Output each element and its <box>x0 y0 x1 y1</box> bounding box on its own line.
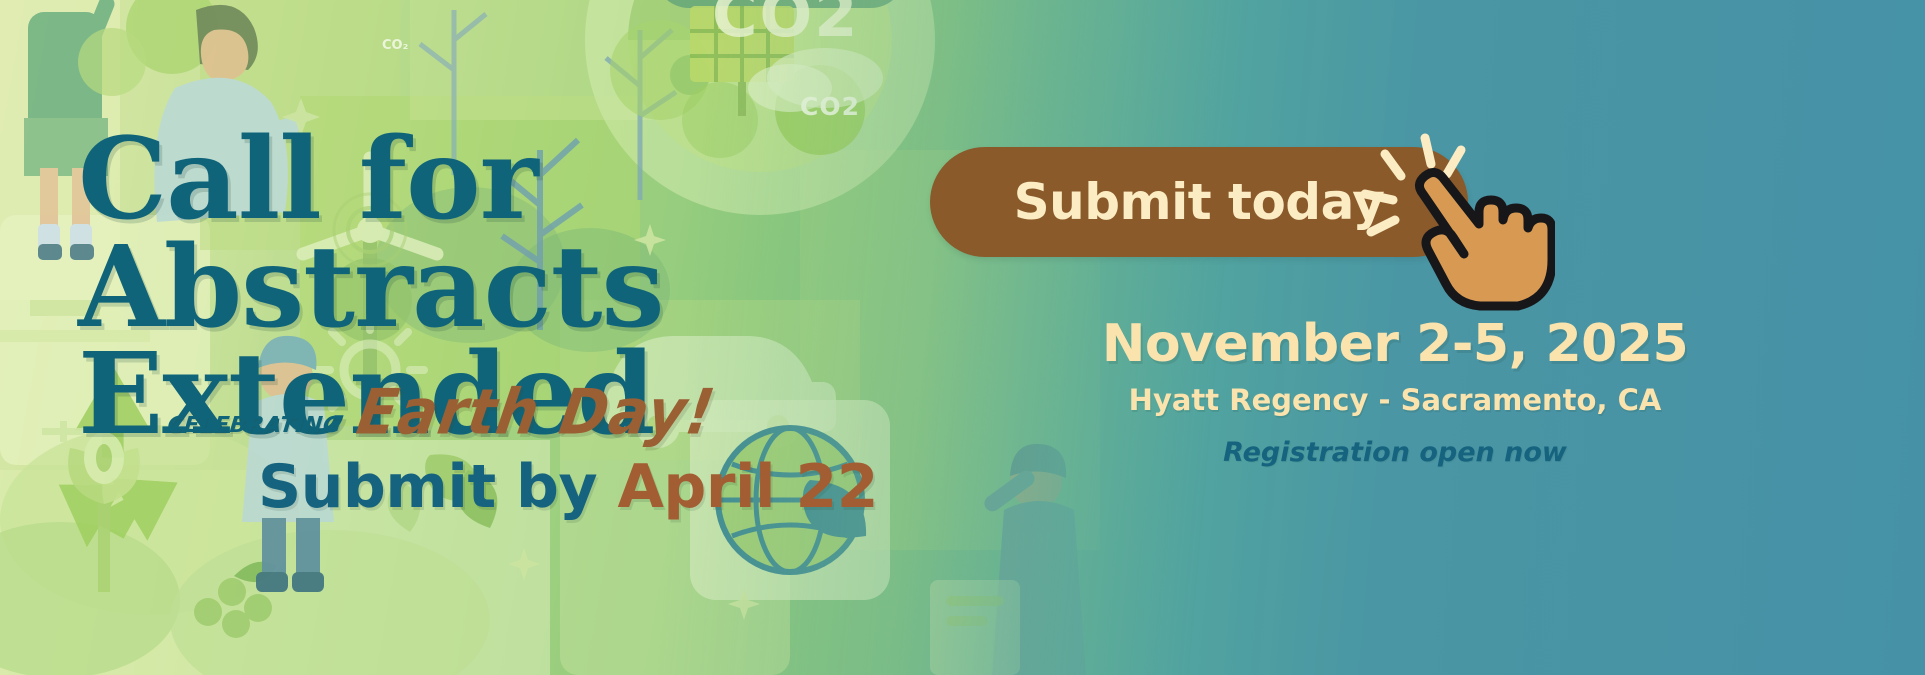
event-details: November 2-5, 2025 Hyatt Regency - Sacra… <box>930 316 1860 468</box>
deadline-date: April 22 <box>617 452 878 522</box>
pointing-hand-click-icon <box>1355 120 1555 320</box>
event-dates: November 2-5, 2025 <box>930 316 1860 373</box>
call-for-abstracts-banner: CO2 CO2 CO₂ Call for Abstracts Extended … <box>0 0 1925 675</box>
deadline-prefix: Submit by <box>258 452 597 522</box>
left-content: Call for Abstracts Extended Celebrating … <box>0 0 930 675</box>
celebrating-label: Celebrating <box>166 402 344 440</box>
right-content: Submit today November 2-5, 2025 <box>930 0 1925 675</box>
submit-today-label: Submit today <box>1014 173 1385 231</box>
earth-day-line: Celebrating Earth Day! <box>168 378 714 446</box>
registration-status: Registration open now <box>930 437 1860 468</box>
deadline-line: Submit by April 22 <box>258 452 878 522</box>
earth-day-label: Earth Day! <box>352 375 720 448</box>
event-venue: Hyatt Regency - Sacramento, CA <box>930 383 1860 417</box>
